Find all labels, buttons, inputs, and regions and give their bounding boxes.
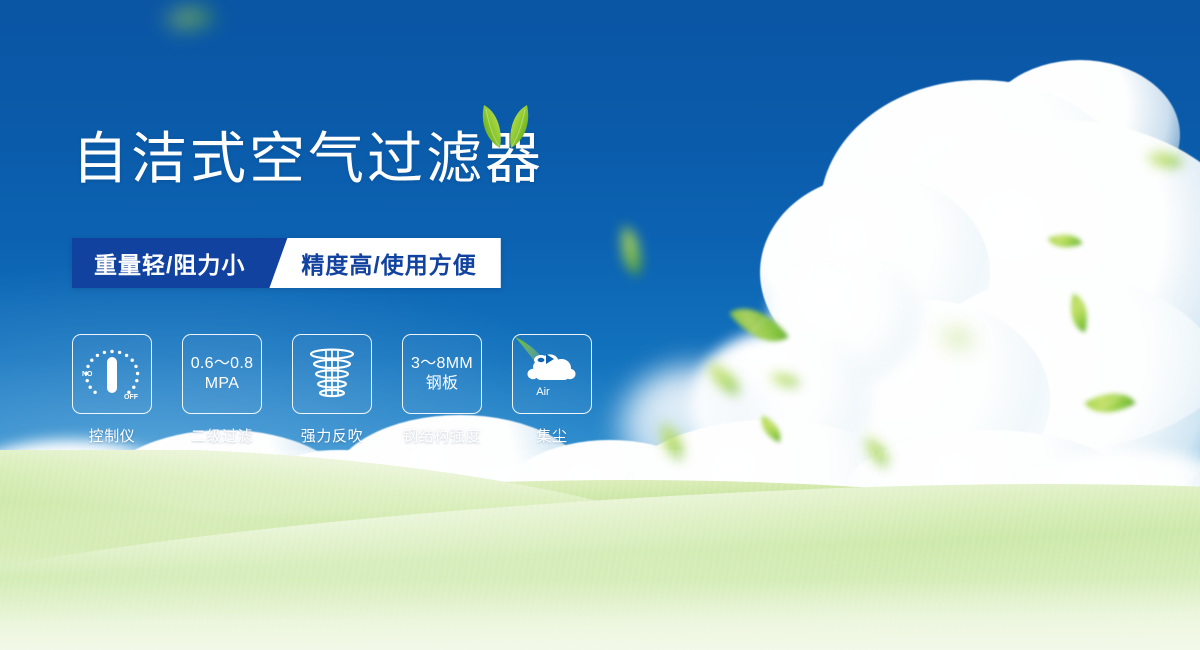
feature-caption: 集尘 (536, 425, 567, 446)
feature-box: 3～8MM 钢板 (402, 334, 482, 414)
feature-text-line-2: 钢板 (426, 374, 459, 394)
feature-text-line-2: MPA (205, 374, 239, 394)
filter-coil-icon (302, 345, 362, 403)
feature-item-dust[interactable]: Air 集尘 (512, 334, 592, 446)
feature-item-pressure[interactable]: 0.6～0.8 MPA 二级过滤 (182, 334, 262, 446)
subtitle-bar: 重量轻/阻力小 精度高/使用方便 (72, 238, 501, 288)
feature-caption: 控制仪 (89, 425, 136, 446)
dial-label-no: NO (82, 371, 93, 378)
grass-field (0, 450, 1200, 650)
feature-item-steel[interactable]: 3～8MM 钢板 钢结构强度 (402, 334, 482, 446)
feature-box (292, 334, 372, 414)
feature-caption: 强力反吹 (301, 425, 363, 446)
feature-caption: 钢结构强度 (403, 425, 481, 446)
title-block: 自洁式空气过滤器 (72, 130, 544, 189)
feature-item-backflush[interactable]: 强力反吹 (292, 334, 372, 446)
cloud-air-label: Air (536, 386, 550, 398)
feature-item-controller[interactable]: NO OFF 控制仪 (72, 334, 152, 446)
feature-text-line-1: 0.6～0.8 (191, 354, 254, 374)
cloud-air-icon: Air (513, 335, 589, 411)
feature-box: NO OFF (72, 334, 152, 414)
gauge-dial-icon: NO OFF (80, 344, 144, 404)
product-hero-banner: 自洁式空气过滤器 重量轻/阻力小 精度高/使用方便 (0, 0, 1200, 650)
subtitle-right: 精度高/使用方便 (269, 238, 500, 288)
dial-label-off: OFF (124, 394, 139, 401)
sprout-leaves-icon (470, 102, 540, 148)
feature-box: 0.6～0.8 MPA (182, 334, 262, 414)
feature-text-line-1: 3～8MM (411, 354, 473, 374)
grass-fade (0, 580, 1200, 650)
feature-box: Air (512, 334, 592, 414)
feature-caption: 二级过滤 (191, 425, 253, 446)
subtitle-left: 重量轻/阻力小 (72, 238, 269, 288)
feature-list: NO OFF 控制仪 0.6～0.8 MPA 二级过滤 (72, 334, 592, 446)
